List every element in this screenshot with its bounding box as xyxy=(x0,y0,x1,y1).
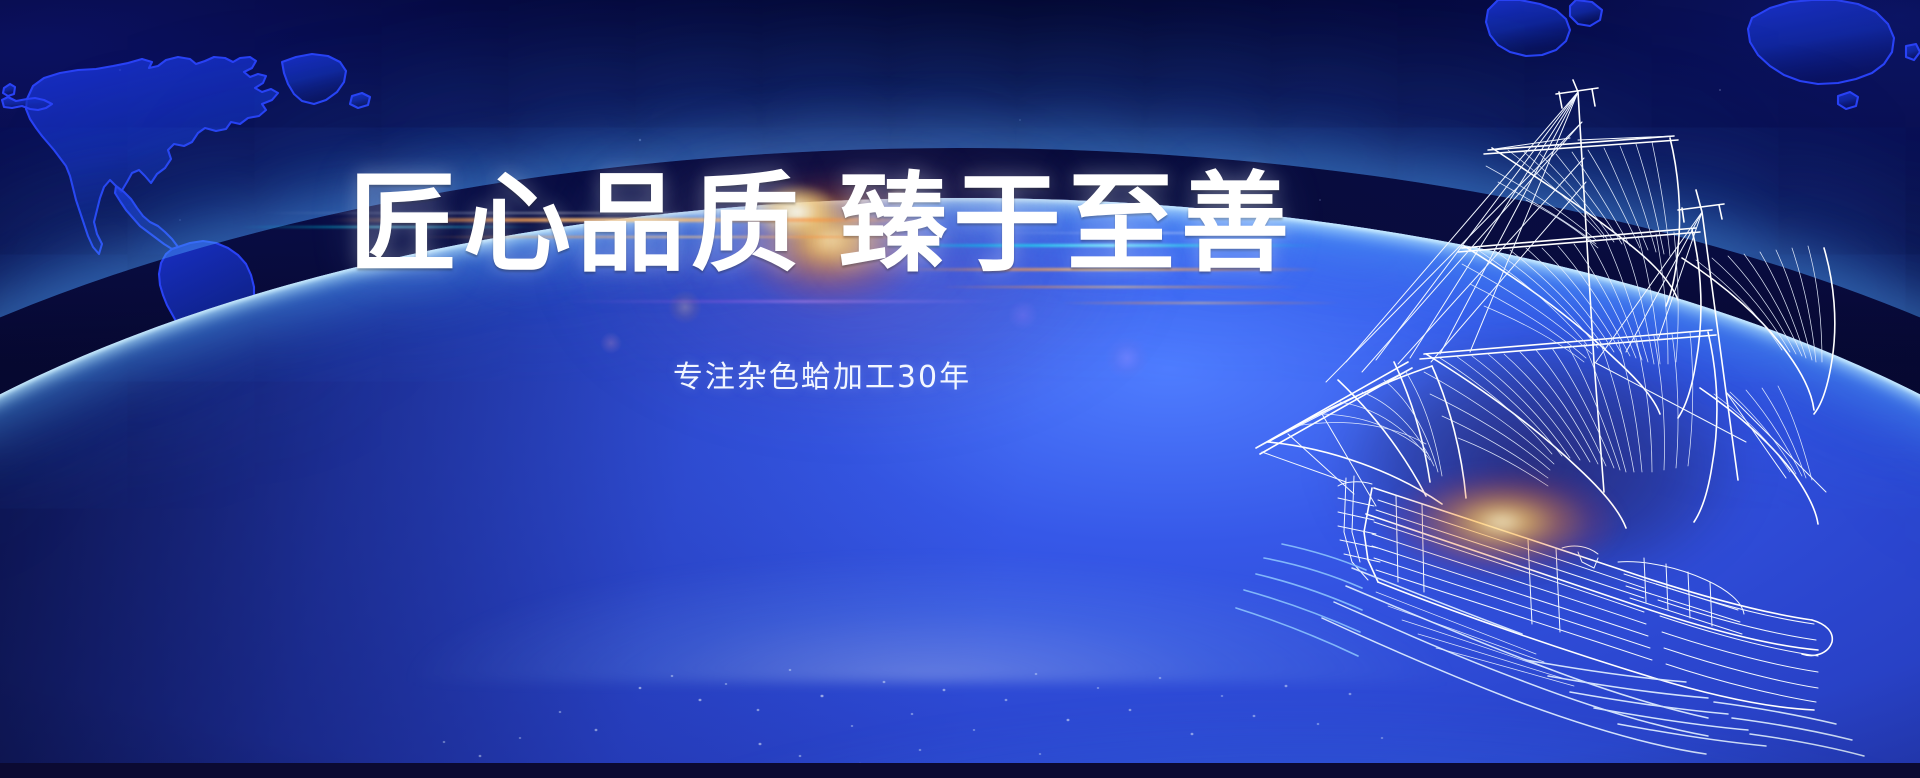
light-streak-purple xyxy=(560,300,1000,303)
lens-flare-ghost xyxy=(885,183,911,209)
lens-flare-ghost xyxy=(668,290,702,324)
lens-flare-ghost xyxy=(1008,300,1038,330)
light-streak-orange xyxy=(330,218,950,222)
sailing-ship-illustration xyxy=(1226,62,1920,762)
hero-banner: 匠心品质臻于至善 专注杂色蛤加工30年 xyxy=(0,0,1920,778)
lens-flare-ghost xyxy=(600,332,622,354)
bottom-bar xyxy=(0,763,1920,778)
light-streak-teal xyxy=(240,226,540,228)
lens-flare-ghost xyxy=(1105,336,1149,380)
light-streak-white xyxy=(260,212,780,214)
